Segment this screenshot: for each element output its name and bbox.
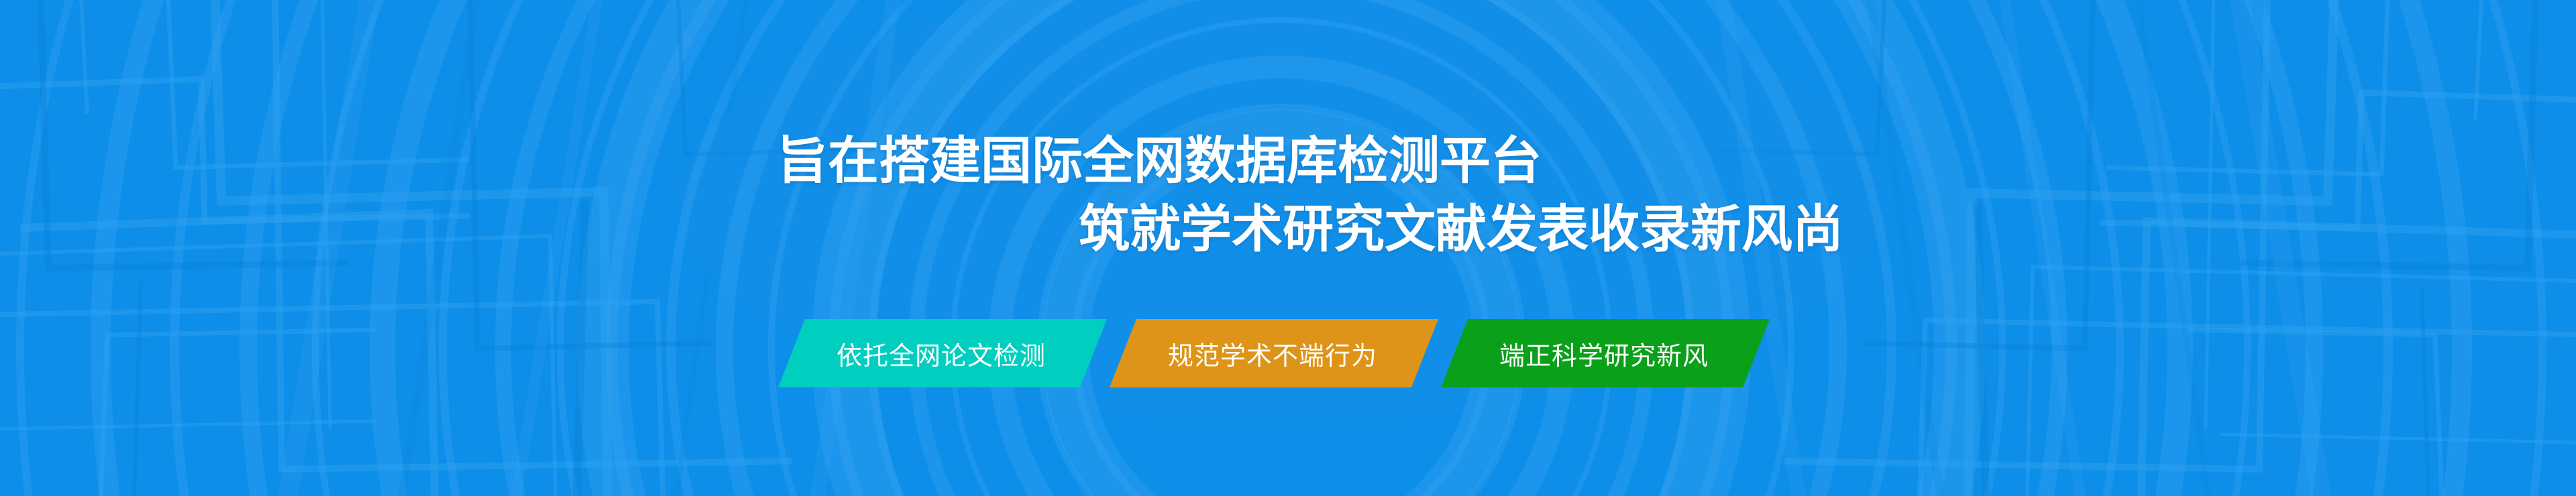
feature-tag-research-ethos-label: 端正科学研究新风 xyxy=(1499,335,1709,372)
headline-block: 旨在搭建国际全网数据库检测平台 筑就学术研究文献发表收录新风尚 xyxy=(0,0,2576,496)
headline-line-1: 旨在搭建国际全网数据库检测平台 xyxy=(777,136,1542,187)
promo-banner: 旨在搭建国际全网数据库检测平台 筑就学术研究文献发表收录新风尚 依托全网论文检测… xyxy=(0,0,2576,496)
feature-tag-detection[interactable]: 依托全网论文检测 xyxy=(778,319,1107,387)
feature-tag-detection-label: 依托全网论文检测 xyxy=(837,335,1046,372)
feature-tag-misconduct-label: 规范学术不端行为 xyxy=(1168,335,1377,372)
feature-tag-band: 依托全网论文检测 规范学术不端行为 端正科学研究新风 xyxy=(778,319,1805,387)
headline-line-2: 筑就学术研究文献发表收录新风尚 xyxy=(1079,204,1843,255)
feature-tag-misconduct[interactable]: 规范学术不端行为 xyxy=(1110,319,1438,387)
concentric-arcs-decoration xyxy=(0,0,2576,496)
feature-tag-research-ethos[interactable]: 端正科学研究新风 xyxy=(1441,319,1770,387)
background-decoration xyxy=(0,0,2576,496)
